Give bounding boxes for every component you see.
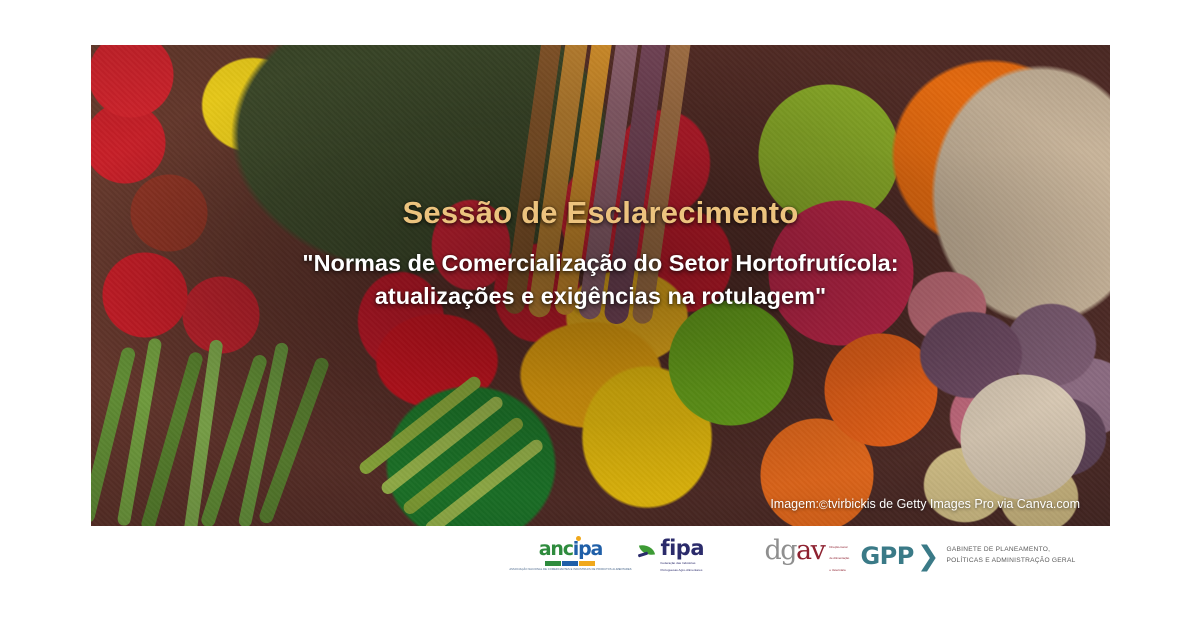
gpp-subtitle-block: GABINETE DE PLANEAMENTO, POLÍTICAS E ADM… [946,545,1075,566]
ancipa-flag-icon [545,561,595,566]
ancipa-word-blue: ipa [573,538,602,560]
partner-logo-bar: ancipa ASSOCIAÇÃO NACIONAL DE COMERCIANT… [0,530,1200,582]
logo-gpp[interactable]: GPP ❯ GABINETE DE PLANEAMENTO, POLÍTICAS… [860,543,1075,570]
image-credit: Imagem:©tvirbickis de Getty Images Pro v… [770,497,1080,512]
gpp-subtitle-line-2: POLÍTICAS E ADMINISTRAÇÃO GERAL [946,556,1075,567]
subtitle-line-2: atualizações e exigências na rotulagem" [375,283,826,309]
page-title: Sessão de Esclarecimento [91,195,1110,231]
gpp-subtitle-line-1: GABINETE DE PLANEAMENTO, [946,545,1075,556]
logo-fipa[interactable]: fipa Federação das Indústrias Portuguesa… [638,539,742,573]
image-credit-prefix: Imagem: [770,497,819,511]
dgav-word-gray: dg [764,535,796,566]
fipa-wordmark: fipa [660,539,704,559]
dgav-subtitle-line-3: e Veterinária [829,568,849,573]
event-banner: Sessão de Esclarecimento "Normas de Come… [91,45,1110,526]
leaf-icon [638,544,656,558]
gpp-wordmark: GPP [860,544,913,568]
dgav-subtitle-line-1: Direção-Geral [829,545,849,550]
fipa-text-block: fipa Federação das Indústrias Portuguesa… [660,539,704,573]
subtitle-line-1: "Normas de Comercialização do Setor Hort… [302,250,898,276]
chevron-right-icon: ❯ [917,543,940,570]
image-credit-text: tvirbickis de Getty Images Pro via Canva… [828,497,1080,511]
ancipa-word-green: anc [539,538,573,560]
fipa-subtitle-line-2: Portuguesas Agro-Alimentares [660,568,704,573]
banner-text-overlay: Sessão de Esclarecimento "Normas de Come… [91,195,1110,313]
dgav-subtitle-block: Direção-Geral de Alimentação e Veterinár… [829,539,849,573]
dgav-subtitle-line-2: de Alimentação [829,556,849,561]
ancipa-wordmark: ancipa [539,540,602,559]
logo-dgav[interactable]: dgav Direção-Geral de Alimentação e Vete… [764,539,838,573]
banner-subtitle: "Normas de Comercialização do Setor Hort… [91,247,1110,314]
copyright-icon: © [819,498,828,512]
ancipa-subtitle: ASSOCIAÇÃO NACIONAL DE COMERCIANTES E IN… [509,568,631,572]
logo-ancipa[interactable]: ancipa ASSOCIAÇÃO NACIONAL DE COMERCIANT… [524,540,616,571]
fipa-subtitle-line-1: Federação das Indústrias [660,561,704,566]
dgav-wordmark: dgav [764,539,824,563]
dgav-word-red: av [796,535,824,566]
